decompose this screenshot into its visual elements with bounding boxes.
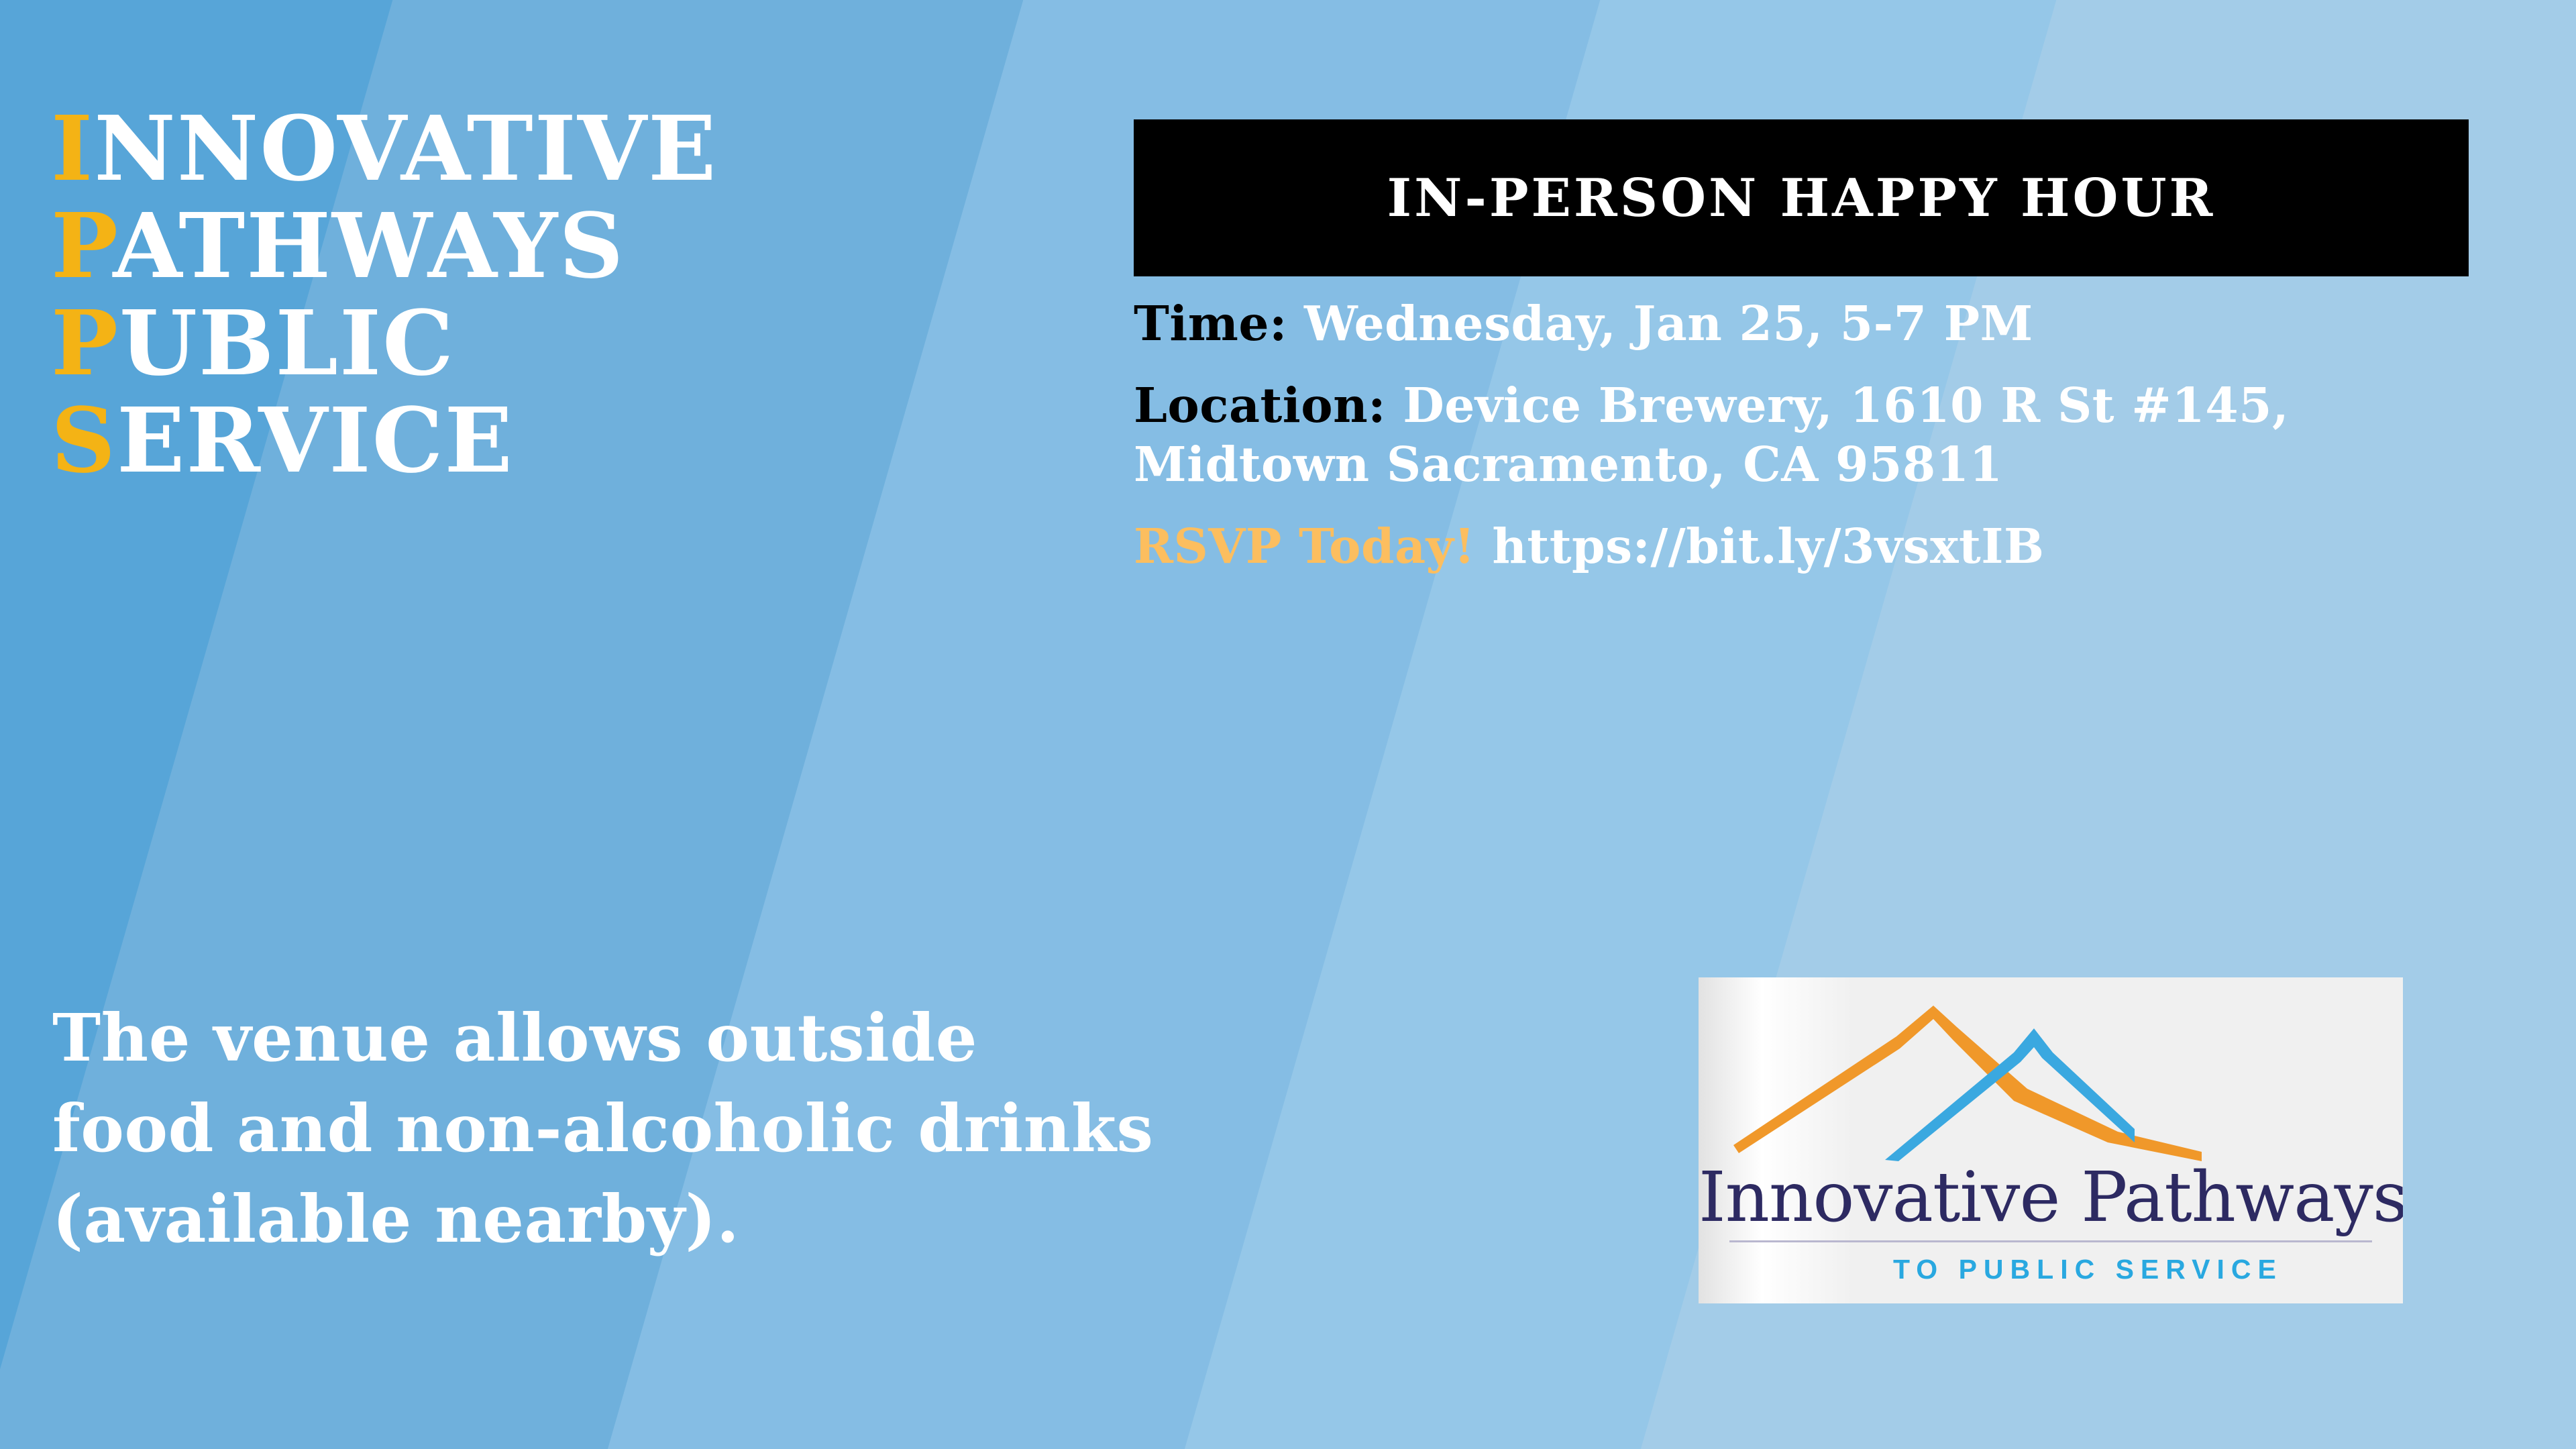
rsvp-link[interactable]: https://bit.ly/3vsxtIB [1492,518,2044,574]
event-time-value: Wednesday, Jan 25, 5-7 PM [1304,295,2033,352]
title-accent-letter: P [51,194,113,299]
title-accent-letter: P [51,291,119,396]
title-line-pathways: PATHWAYS [51,198,1097,295]
event-location-label: Location: [1134,377,1386,433]
event-details-panel: IN-PERSON HAPPY HOUR Time: Wednesday, Ja… [1134,119,2472,576]
flyer-canvas: INNOVATIVE PATHWAYS PUBLIC SERVICE IN-PE… [0,0,2576,1449]
venue-policy-note: The venue allows outside food and non-al… [52,993,1394,1265]
logo-divider [1729,1240,2372,1242]
organization-logo-card: Innovative Pathways TO PUBLIC SERVICE [1699,977,2403,1303]
title-accent-letter: I [51,97,94,201]
event-rsvp-row[interactable]: RSVP Today! https://bit.ly/3vsxtIB [1134,517,2472,576]
venue-policy-note-line-2: food and non-alcoholic drinks [52,1083,1394,1174]
logo-wordmark: Innovative Pathways [1699,1157,2403,1238]
organization-title: INNOVATIVE PATHWAYS PUBLIC SERVICE [51,101,1097,490]
title-rest-letters: ERVICE [117,388,514,493]
rsvp-call-to-action-label: RSVP Today! [1134,518,1475,574]
title-line-innovative: INNOVATIVE [51,101,1097,198]
event-type-banner: IN-PERSON HAPPY HOUR [1134,119,2469,276]
title-accent-letter: S [51,388,117,493]
title-line-public: PUBLIC [51,295,1097,392]
event-time-label: Time: [1134,295,1287,352]
venue-policy-note-line-3: (available nearby). [52,1174,1394,1265]
venue-policy-note-line-1: The venue allows outside [52,993,1394,1083]
event-time-row: Time: Wednesday, Jan 25, 5-7 PM [1134,294,2472,353]
title-rest-letters: ATHWAYS [113,194,625,299]
event-type-banner-label: IN-PERSON HAPPY HOUR [1387,168,2216,229]
title-rest-letters: NNOVATIVE [94,97,717,201]
title-line-service: SERVICE [51,392,1097,490]
logo-tagline: TO PUBLIC SERVICE [1699,1254,2403,1285]
mountain-peaks-icon [1732,1000,2369,1161]
event-location-row: Location: Device Brewery, 1610 R St #145… [1134,376,2472,494]
title-rest-letters: UBLIC [119,291,455,396]
